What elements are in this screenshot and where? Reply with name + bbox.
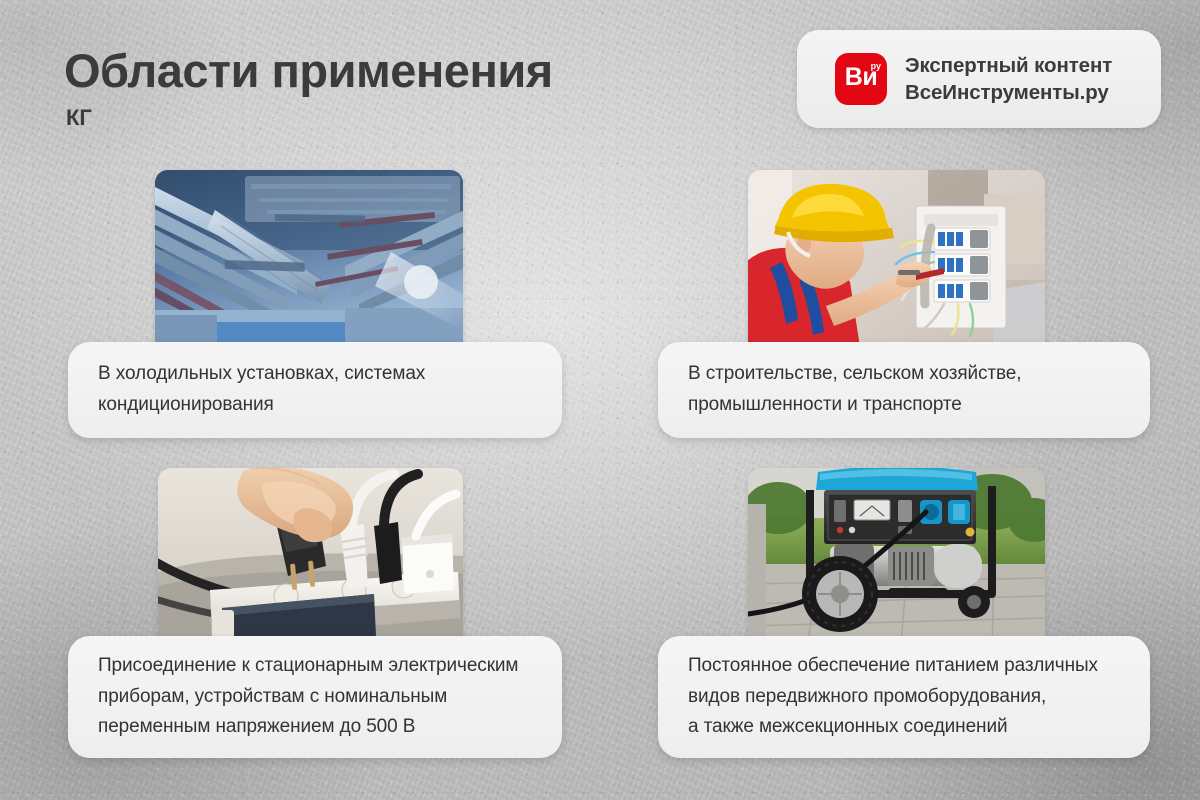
page-subtitle: КГ [66,107,92,129]
logo-superscript: ру [871,62,881,71]
caption-line: Постоянное обеспечение питанием различны… [688,651,1120,682]
page-title: Области применения [64,46,553,95]
caption-line: промышленности и транспорте [688,390,1120,421]
caption-line: В холодильных установках, системах [98,359,532,390]
caption-card-4: Постоянное обеспечение питанием различны… [658,636,1150,758]
portable-generator-photo [748,468,1045,653]
caption-card-2: В строительстве, сельском хозяйстве, про… [658,342,1150,438]
caption-line: приборам, устройствам с номинальным [98,682,532,713]
caption-line: кондиционирования [98,390,532,421]
electrician-panel-photo [748,170,1045,360]
brand-badge: Ви ру Экспертный контент ВсеИнструменты.… [797,30,1161,128]
caption-line: а также межсекционных соединений [688,712,1120,743]
caption-card-3: Присоединение к стационарным электрическ… [68,636,562,758]
caption-line: видов передвижного промоборудования, [688,682,1120,713]
industrial-hvac-ducts-photo [155,170,463,360]
brand-badge-line-2: ВсеИнструменты.ру [905,79,1112,106]
caption-card-1: В холодильных установках, системах конди… [68,342,562,438]
caption-line: Присоединение к стационарным электрическ… [98,651,532,682]
infographic-slide: Области применения КГ Ви ру Экспертный к… [0,0,1200,800]
caption-line: переменным напряжением до 500 В [98,712,532,743]
brand-badge-line-1: Экспертный контент [905,52,1112,79]
brand-badge-text: Экспертный контент ВсеИнструменты.ру [905,52,1112,107]
power-strip-plug-photo [158,468,463,653]
vseinstrumenti-logo-icon: Ви ру [835,53,887,105]
caption-line: В строительстве, сельском хозяйстве, [688,359,1120,390]
